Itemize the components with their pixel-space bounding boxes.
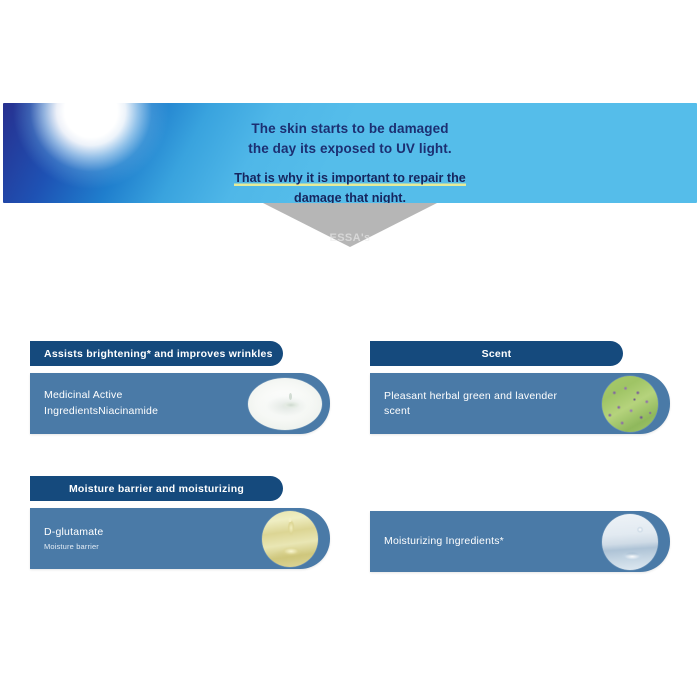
feature-card-moisture-barrier[interactable]: Moisture barrier and moisturizing D-glut…: [30, 476, 330, 569]
card-text-group: Moisturizing Ingredients*: [384, 534, 504, 549]
card-title-d-glutamate: D-glutamate: [44, 525, 103, 540]
down-arrow-icon: [263, 203, 437, 247]
card-subtitle-moisture-barrier: Moisture barrier: [44, 541, 103, 552]
feature-card-moisturizing-ingredients[interactable]: Moisturizing Ingredients*: [370, 511, 670, 572]
card-title-moisturizing-ingredients: Moisturizing Ingredients*: [384, 534, 504, 549]
hero-emphasis-line-1: That is why it is important to repair th…: [234, 171, 466, 186]
water-droplet-thumbnail: [602, 514, 658, 570]
down-arrow: ESSA's: [263, 203, 437, 251]
card-body-moisturizing-ingredients: Moisturizing Ingredients*: [370, 511, 670, 572]
card-text-group: Medicinal Active IngredientsNiacinamide: [44, 388, 158, 419]
card-body-scent: Pleasant herbal green and lavender scent: [370, 373, 670, 434]
card-body-brightening: Medicinal Active IngredientsNiacinamide: [30, 373, 330, 434]
golden-droplet-image: [262, 511, 318, 567]
card-body-moisture-barrier: D-glutamate Moisture barrier: [30, 508, 330, 569]
card-title-scent: Pleasant herbal green and lavender scent: [384, 389, 584, 419]
card-title-brightening: Medicinal Active: [44, 388, 158, 403]
feature-card-scent[interactable]: Scent Pleasant herbal green and lavender…: [370, 341, 670, 434]
hero-emphasis-block: That is why it is important to repair th…: [135, 168, 565, 203]
hero-line-2: the day its exposed to UV light.: [135, 139, 565, 159]
card-header-moisture-barrier: Moisture barrier and moisturizing: [30, 476, 283, 501]
card-header-brightening: Assists brightening* and improves wrinkl…: [30, 341, 283, 366]
card-text-group: Pleasant herbal green and lavender scent: [384, 389, 584, 419]
hero-line-1: The skin starts to be damaged: [135, 119, 565, 139]
lavender-field-thumbnail: [602, 376, 658, 432]
hero-banner: The skin starts to be damaged the day it…: [3, 103, 697, 203]
lavender-field-image: [602, 376, 658, 432]
page-root: The skin starts to be damaged the day it…: [0, 0, 700, 700]
hero-text-block: The skin starts to be damaged the day it…: [135, 119, 565, 203]
cream-swirl-image: [248, 378, 322, 430]
hero-emphasis-line-2: damage that night.: [294, 191, 406, 203]
water-droplet-image: [602, 514, 658, 570]
card-text-group: D-glutamate Moisture barrier: [44, 525, 103, 552]
cream-swirl-thumbnail: [248, 378, 322, 430]
card-header-scent: Scent: [370, 341, 623, 366]
golden-droplet-thumbnail: [262, 511, 318, 567]
feature-card-brightening[interactable]: Assists brightening* and improves wrinkl…: [30, 341, 330, 434]
card-title-brightening-line2: IngredientsNiacinamide: [44, 404, 158, 419]
